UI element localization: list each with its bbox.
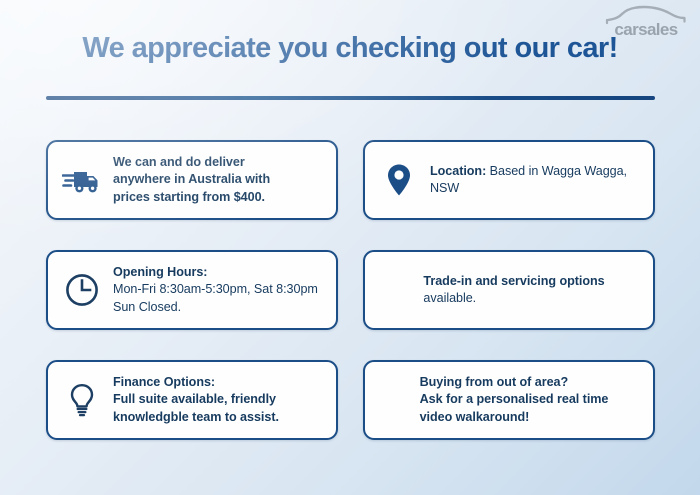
card-line: available. (423, 290, 604, 307)
info-card-video-walkaround: Buying from out of area? Ask for a perso… (363, 360, 655, 440)
card-line: anywhere in Australia with (113, 171, 270, 188)
info-card-video-walkaround-text: Buying from out of area? Ask for a perso… (412, 374, 609, 426)
info-card-opening-hours-text: Opening Hours: Mon-Fri 8:30am-5:30pm, Sa… (113, 264, 318, 316)
card-line: Ask for a personalised real time (420, 391, 609, 408)
card-lead: Opening Hours: (113, 264, 318, 281)
page-title: We appreciate you checking out our car! (0, 31, 700, 65)
info-card-finance: Finance Options: Full suite available, f… (46, 360, 338, 440)
promo-banner: carsales We appreciate you checking out … (0, 0, 700, 495)
info-card-location-text: Location: Based in Wagga Wagga, NSW (430, 163, 627, 198)
card-line: Mon-Fri 8:30am-5:30pm, Sat 8:30pm (113, 281, 318, 298)
info-card-finance-text: Finance Options: Full suite available, f… (113, 374, 279, 426)
card-line: Full suite available, friendly (113, 391, 279, 408)
map-pin-icon (377, 158, 421, 202)
info-card-location: Location: Based in Wagga Wagga, NSW (363, 140, 655, 220)
card-line: knowledgble team to assist. (113, 409, 279, 426)
card-line: Based in Wagga Wagga, (490, 164, 627, 178)
info-card-delivery: We can and do deliver anywhere in Austra… (46, 140, 338, 220)
clock-icon (60, 268, 104, 312)
card-lead: Location: (430, 164, 486, 178)
card-line: NSW (430, 180, 627, 197)
info-card-grid: We can and do deliver anywhere in Austra… (46, 140, 655, 440)
info-card-trade-in-text: Trade-in and servicing options available… (415, 273, 604, 308)
card-line: prices starting from $400. (113, 189, 270, 206)
lightbulb-icon (60, 378, 104, 422)
card-lead: Trade-in and servicing options (423, 273, 604, 290)
card-line: We can and do deliver (113, 154, 270, 171)
card-line: video walkaround! (420, 409, 609, 426)
info-card-delivery-text: We can and do deliver anywhere in Austra… (113, 154, 270, 206)
card-lead: Buying from out of area? (420, 374, 609, 391)
info-card-opening-hours: Opening Hours: Mon-Fri 8:30am-5:30pm, Sa… (46, 250, 338, 330)
card-lead: Finance Options: (113, 374, 279, 391)
info-card-trade-in: Trade-in and servicing options available… (363, 250, 655, 330)
delivery-truck-icon (60, 158, 104, 202)
card-line: Sun Closed. (113, 299, 318, 316)
title-divider (46, 96, 655, 100)
